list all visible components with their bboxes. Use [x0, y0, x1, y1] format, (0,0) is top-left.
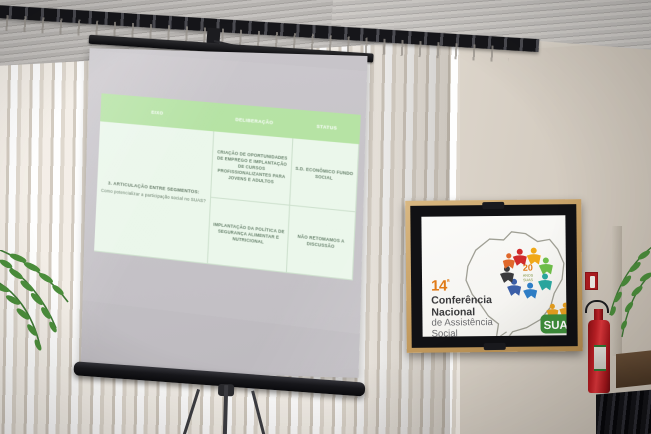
- table-cell-status-2: NÃO RETOMAMOS A DISCUSSÃO: [287, 206, 356, 281]
- suas-badge-icon: SUAS: [538, 301, 566, 335]
- conference-banner: 20 ANOS SUAS SUAS 14ª Con: [405, 199, 583, 353]
- fern-plant-right: [604, 245, 651, 350]
- banner-line-social: Social: [432, 329, 493, 337]
- table-cell-status-1: S.D. ECONÔMICO FUNDO SOCIAL: [290, 138, 359, 212]
- svg-text:20: 20: [523, 263, 533, 273]
- stacked-chairs: [596, 389, 651, 434]
- table-cell-deliberacao-2: IMPLANTAÇÃO DA POLÍTICA DE SEGURANÇA ALI…: [208, 198, 290, 273]
- fire-sign-glyph: [590, 276, 595, 288]
- slide-table: EIXO DELIBERAÇÃO STATUS 3. ARTICULAÇÃO E…: [94, 93, 361, 280]
- banner-canvas: 20 ANOS SUAS SUAS 14ª Con: [421, 215, 566, 337]
- table-cell-deliberacao-1: CRIAÇÃO DE OPORTUNIDADES DE EMPREGO E IM…: [211, 131, 293, 205]
- suas-badge-label: SUAS: [543, 320, 566, 332]
- banner-black-mat: 20 ANOS SUAS SUAS 14ª Con: [410, 204, 577, 348]
- banner-title-block: 14ª Conferência Nacional de Assistência …: [431, 278, 493, 337]
- svg-text:SUAS: SUAS: [523, 278, 533, 282]
- fire-extinguisher-sign-icon: [585, 272, 598, 290]
- table-cell-eixo: 3. ARTICULAÇÃO ENTRE SEGMENTOS: Como pot…: [94, 121, 214, 264]
- banner-edition-number: 14ª: [431, 278, 493, 295]
- screen-surface: EIXO DELIBERAÇÃO STATUS 3. ARTICULAÇÃO E…: [81, 48, 368, 378]
- room-scene: EIXO DELIBERAÇÃO STATUS 3. ARTICULAÇÃO E…: [0, 0, 651, 434]
- svg-text:ANOS: ANOS: [523, 274, 534, 278]
- wooden-table: [616, 350, 651, 388]
- suas-20-years-logo-icon: 20 ANOS SUAS: [500, 243, 557, 300]
- banner-wood-frame: 20 ANOS SUAS SUAS 14ª Con: [405, 199, 583, 353]
- banner-clip-top: [482, 202, 504, 209]
- projector-screen: EIXO DELIBERAÇÃO STATUS 3. ARTICULAÇÃO E…: [75, 36, 373, 394]
- banner-clip-bottom: [484, 343, 506, 350]
- projected-slide: EIXO DELIBERAÇÃO STATUS 3. ARTICULAÇÃO E…: [81, 50, 368, 335]
